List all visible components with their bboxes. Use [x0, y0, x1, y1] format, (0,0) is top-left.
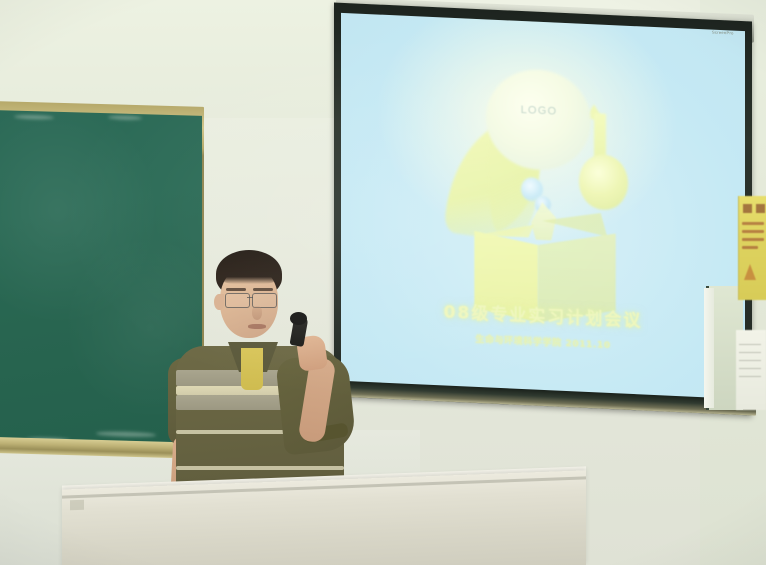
projection-screen: LOGO 08级专业实习计划会议 生命与环境科学学院 2011.10 Scree…	[332, 6, 756, 418]
presenter-mouth	[248, 324, 266, 329]
wall-papers	[736, 330, 766, 410]
paper-text-line	[739, 360, 761, 361]
shirt-stripe	[176, 466, 344, 470]
glasses-lens-left	[225, 293, 250, 308]
chalk-smudge	[96, 431, 156, 438]
poster-text-line	[742, 222, 764, 225]
paper-text-line	[739, 344, 761, 345]
paper-text-line	[739, 352, 761, 353]
presenter-ear	[214, 294, 224, 310]
chalk-smudge	[14, 115, 54, 120]
side-whiteboard-surface	[704, 288, 714, 408]
paper-text-line	[739, 376, 761, 377]
sphere-yellow-icon	[579, 153, 627, 211]
microphone-icon[interactable]	[290, 312, 307, 325]
poster-text-line	[742, 246, 758, 249]
screen-surface: LOGO 08级专业实习计划会议 生命与环境科学学院 2011.10	[341, 13, 745, 402]
presenter-hair-front	[218, 260, 280, 284]
screen-frame: LOGO 08级专业实习计划会议 生命与环境科学学院 2011.10	[334, 3, 752, 416]
chalk-smudge	[108, 115, 142, 120]
poster-text-line	[742, 238, 764, 241]
presenter-nose	[252, 306, 262, 320]
wall-poster	[738, 196, 766, 300]
screen-brand-label: ScreenPro	[712, 30, 734, 36]
glasses-bridge	[247, 297, 253, 298]
podium-notch	[70, 500, 84, 511]
presentation-slide: LOGO 08级专业实习计划会议 生命与环境科学学院 2011.10	[341, 13, 745, 402]
shirt-placket	[241, 348, 263, 390]
classroom-photo: LOGO 08级专业实习计划会议 生命与环境科学学院 2011.10 Scree…	[0, 0, 766, 565]
presenter	[168, 250, 368, 500]
presenter-eyebrow-left	[226, 288, 246, 291]
poster-figure-icon	[744, 264, 756, 280]
paper-text-line	[739, 368, 761, 369]
wall-upper-section	[0, 0, 360, 118]
presenter-eyebrow-right	[253, 288, 273, 291]
poster-block-icon	[756, 204, 765, 213]
poster-text-line	[742, 230, 764, 233]
poster-block-icon	[743, 204, 752, 213]
